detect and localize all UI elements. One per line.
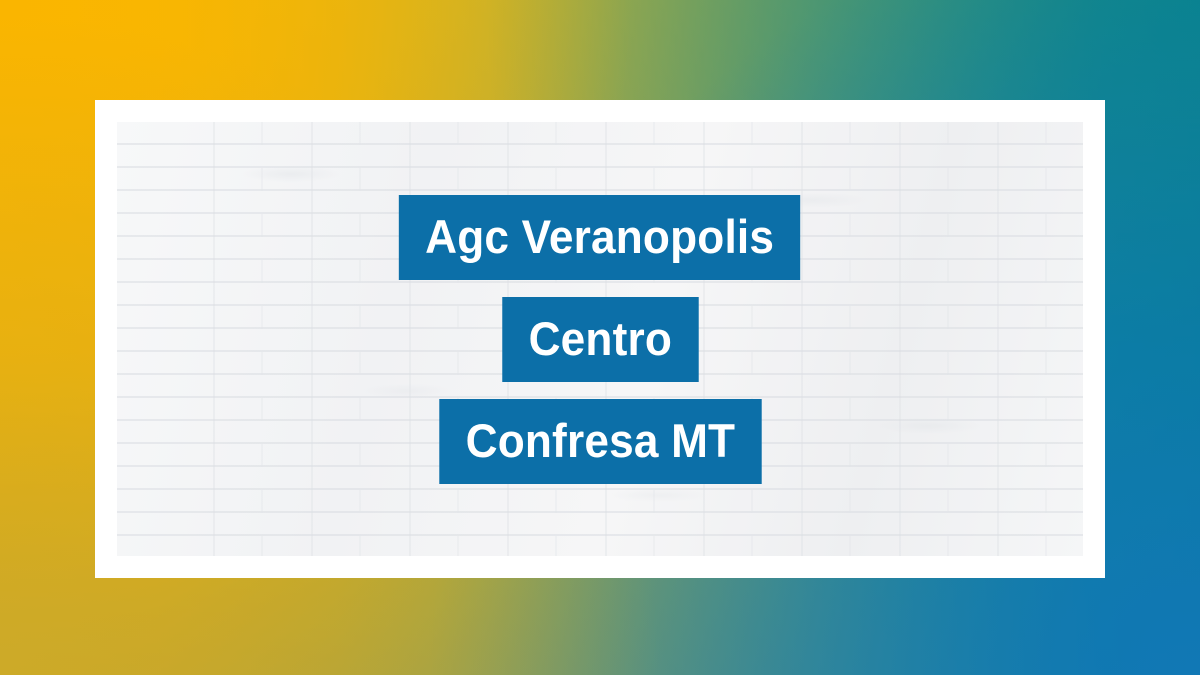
title-plate-city-state: Confresa MT	[439, 399, 761, 484]
card-frame-inner: Agc Veranopolis Centro Confresa MT	[109, 114, 1091, 564]
card-frame-outer: Agc Veranopolis Centro Confresa MT	[95, 100, 1105, 578]
title-plate-neighborhood: Centro	[502, 297, 698, 382]
poster-canvas: Agc Veranopolis Centro Confresa MT	[0, 0, 1200, 675]
title-plate-business-name: Agc Veranopolis	[399, 195, 801, 280]
title-plate-stack: Agc Veranopolis Centro Confresa MT	[117, 122, 1083, 556]
card-frame-gap: Agc Veranopolis Centro Confresa MT	[104, 109, 1096, 569]
